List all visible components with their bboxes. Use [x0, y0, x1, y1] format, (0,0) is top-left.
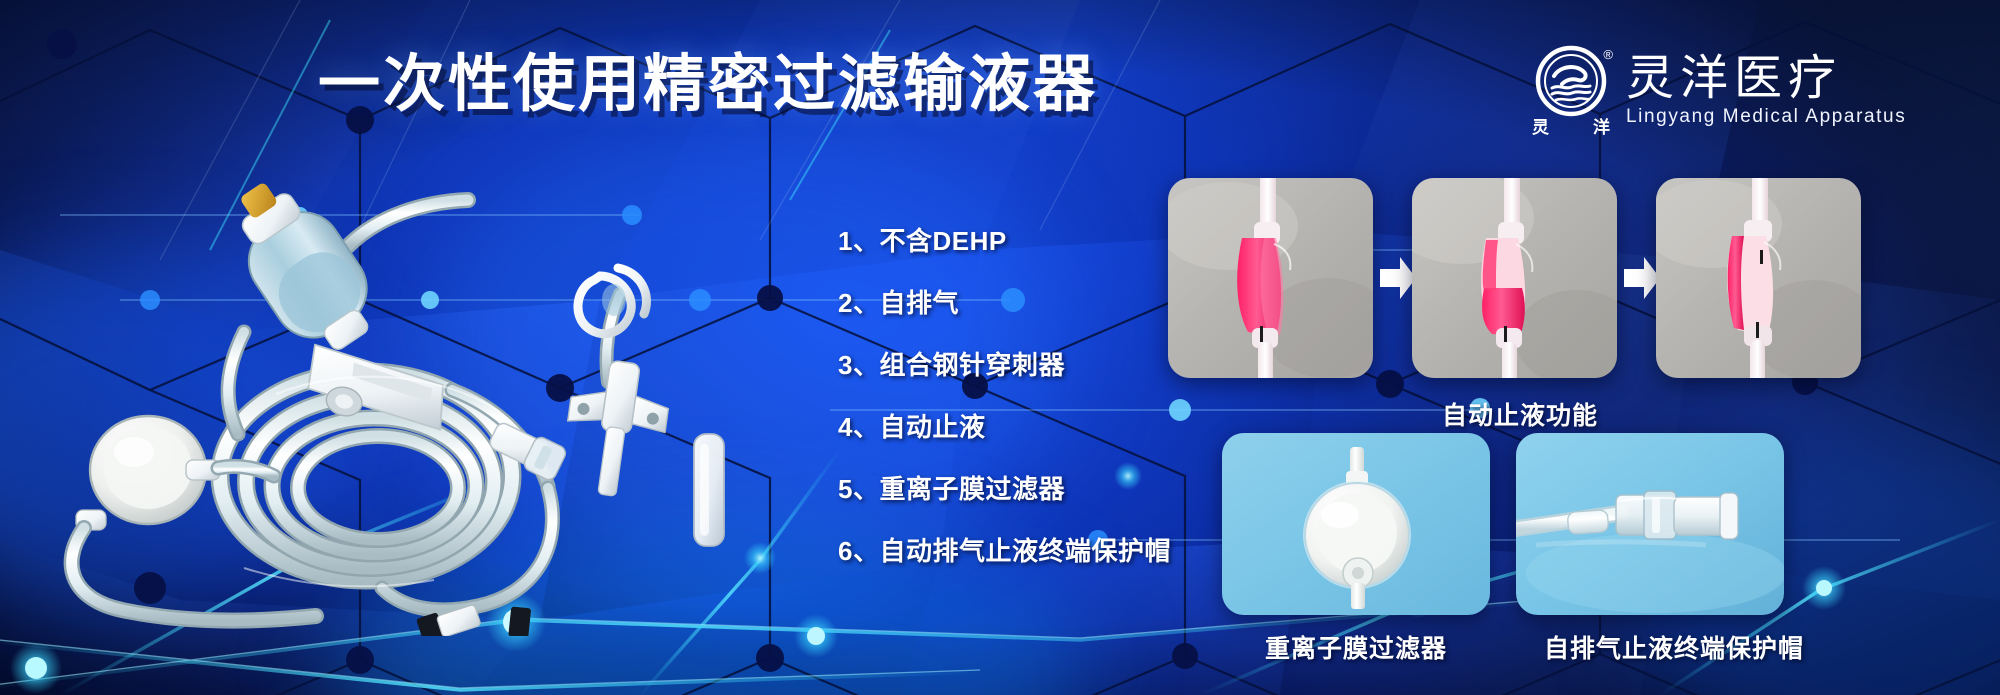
logo-mark-characters: 灵 洋: [1532, 113, 1610, 138]
wave-seal-icon: ® 灵 洋: [1532, 42, 1610, 138]
feature-item-4: 4、自动止液: [838, 414, 1171, 466]
sequence-frame-3: [1656, 178, 1861, 378]
page-title: 一次性使用精密过滤输液器: [318, 54, 1098, 116]
feature-item-2: 2、自排气: [838, 290, 1171, 342]
brand-name-block: 灵洋医疗 Lingyang Medical Apparatus: [1626, 54, 1906, 126]
brand-name-cn: 灵洋医疗: [1626, 54, 1906, 104]
feature-list: 1、不含DEHP 2、自排气 3、组合钢针穿刺器 4、自动止液 5、重离子膜过滤…: [838, 228, 1171, 590]
product-banner: 一次性使用精密过滤输液器 ® 灵 洋 灵洋医疗 Lingyang Medical…: [0, 0, 2000, 695]
logo-mark-char-right: 洋: [1593, 113, 1610, 138]
detail-panel-filter: [1222, 433, 1490, 615]
sequence-frame-1: [1168, 178, 1373, 378]
feature-item-3: 3、组合钢针穿刺器: [838, 352, 1171, 404]
brand-logo: ® 灵 洋 灵洋医疗 Lingyang Medical Apparatus: [1532, 42, 1906, 138]
sequence-frame-2: [1412, 178, 1617, 378]
feature-item-6: 6、自动排气止液终端保护帽: [838, 538, 1171, 590]
logo-mark-char-left: 灵: [1532, 113, 1549, 138]
sequence-caption: 自动止液功能: [1442, 396, 1598, 432]
brand-name-en: Lingyang Medical Apparatus: [1626, 107, 1906, 126]
registered-trademark-icon: ®: [1603, 48, 1613, 61]
detail-caption-cap: 自排气止液终端保护帽: [1544, 629, 1804, 665]
feature-item-5: 5、重离子膜过滤器: [838, 476, 1171, 528]
hero-product-photo: [48, 176, 788, 636]
feature-item-1: 1、不含DEHP: [838, 228, 1171, 280]
detail-panel-cap: [1516, 433, 1784, 615]
detail-caption-filter: 重离子膜过滤器: [1265, 629, 1447, 665]
